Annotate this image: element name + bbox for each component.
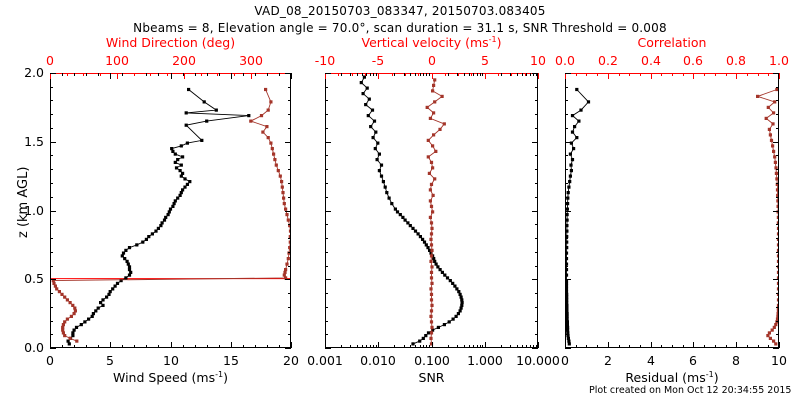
x-axis-label-bottom-residual: Residual (ms-1) bbox=[625, 370, 718, 385]
tick-top-minor bbox=[167, 73, 168, 76]
tick-y-minor bbox=[535, 252, 538, 253]
tick-y-major bbox=[565, 73, 571, 74]
tick-y-minor bbox=[288, 266, 291, 267]
tick-y-minor bbox=[565, 197, 568, 198]
tick-y-minor bbox=[288, 293, 291, 294]
tick-bottom-minor bbox=[366, 345, 367, 348]
tick-y-minor bbox=[776, 321, 779, 322]
tick-y-minor bbox=[50, 224, 53, 225]
tick-top-minor bbox=[201, 73, 202, 76]
tick-y-minor bbox=[50, 128, 53, 129]
series-correlation bbox=[756, 88, 778, 346]
tick-top-minor bbox=[525, 73, 526, 76]
tick-bottom-minor bbox=[530, 345, 531, 348]
tick-top-minor bbox=[392, 73, 393, 76]
tick-y-minor bbox=[288, 100, 291, 101]
tick-bottom-minor bbox=[426, 345, 427, 348]
tick-bottom-major bbox=[291, 342, 292, 348]
tick-bottom-major bbox=[736, 342, 737, 348]
tick-label-top: 0.8 bbox=[726, 53, 746, 68]
tick-top-minor bbox=[370, 73, 371, 76]
series-wind-direction bbox=[52, 88, 290, 343]
tick-y-minor bbox=[565, 224, 568, 225]
tick-top-major bbox=[608, 73, 609, 79]
tick-top-minor bbox=[445, 73, 446, 76]
tick-bottom-minor bbox=[480, 345, 481, 348]
tick-y-minor bbox=[50, 211, 53, 212]
tick-bottom-minor bbox=[420, 345, 421, 348]
tick-bottom-major bbox=[538, 342, 539, 348]
tick-bottom-minor bbox=[448, 345, 449, 348]
tick-y-major bbox=[325, 348, 331, 349]
tick-top-minor bbox=[526, 73, 527, 76]
tick-top-minor bbox=[501, 73, 502, 76]
tick-bottom-minor bbox=[394, 345, 395, 348]
tick-bottom-minor bbox=[376, 345, 377, 348]
tick-top-major bbox=[693, 73, 694, 79]
tick-top-minor bbox=[672, 73, 673, 76]
tick-y-major bbox=[773, 279, 779, 280]
tick-top-minor bbox=[62, 73, 63, 76]
plot-title: VAD_08_20150703_083347, 20150703.083405 bbox=[254, 4, 545, 18]
tick-bottom-major bbox=[378, 342, 379, 348]
tick-bottom-minor bbox=[517, 345, 518, 348]
y-tick-label: 1.0 bbox=[24, 203, 44, 218]
tick-y-minor bbox=[565, 307, 568, 308]
tick-bottom-minor bbox=[74, 345, 75, 348]
tick-top-minor bbox=[629, 73, 630, 76]
tick-y-major bbox=[50, 142, 56, 143]
tick-top-minor bbox=[394, 73, 395, 76]
tick-y-minor bbox=[325, 211, 328, 212]
tick-y-minor bbox=[288, 334, 291, 335]
tick-y-minor bbox=[50, 321, 53, 322]
tick-top-minor bbox=[158, 73, 159, 76]
tick-y-minor bbox=[565, 114, 568, 115]
tick-top-major bbox=[432, 73, 433, 79]
tick-y-minor bbox=[325, 252, 328, 253]
tick-bottom-minor bbox=[350, 345, 351, 348]
tick-top-minor bbox=[83, 73, 84, 76]
tick-top-minor bbox=[373, 73, 374, 76]
tick-top-minor bbox=[217, 73, 218, 76]
tick-y-minor bbox=[50, 293, 53, 294]
tick-y-minor bbox=[325, 293, 328, 294]
tick-y-major bbox=[532, 142, 538, 143]
tick-label-top: 0 bbox=[46, 53, 54, 68]
y-tick-label: 1.5 bbox=[24, 134, 44, 149]
x-axis-label-top-residual: Correlation bbox=[638, 35, 707, 50]
tick-y-minor bbox=[288, 114, 291, 115]
tick-label-bottom: 0.100 bbox=[414, 353, 450, 368]
tick-y-minor bbox=[535, 87, 538, 88]
tick-label-bottom: 10 bbox=[771, 353, 787, 368]
tick-top-minor bbox=[498, 73, 499, 76]
tick-bottom-minor bbox=[522, 345, 523, 348]
tick-label-top: 10 bbox=[530, 53, 546, 68]
tick-label-bottom: 20 bbox=[283, 353, 299, 368]
tick-top-minor bbox=[410, 73, 411, 76]
tick-y-minor bbox=[50, 169, 53, 170]
series-residual bbox=[566, 88, 590, 346]
tick-bottom-minor bbox=[373, 345, 374, 348]
tick-y-minor bbox=[776, 224, 779, 225]
tick-bottom-major bbox=[651, 342, 652, 348]
tick-y-major bbox=[285, 142, 291, 143]
tick-top-minor bbox=[100, 73, 101, 76]
tick-bottom-minor bbox=[473, 345, 474, 348]
tick-y-major bbox=[565, 348, 571, 349]
tick-bottom-minor bbox=[158, 345, 159, 348]
tick-y-minor bbox=[535, 100, 538, 101]
tick-bottom-minor bbox=[464, 345, 465, 348]
tick-label-top: -10 bbox=[315, 53, 335, 68]
tick-bottom-major bbox=[608, 342, 609, 348]
tick-y-minor bbox=[776, 197, 779, 198]
tick-y-minor bbox=[776, 114, 779, 115]
tick-y-minor bbox=[776, 211, 779, 212]
tick-y-minor bbox=[50, 155, 53, 156]
tick-y-minor bbox=[325, 100, 328, 101]
tick-top-minor bbox=[279, 73, 280, 76]
tick-bottom-minor bbox=[183, 345, 184, 348]
tick-y-minor bbox=[288, 307, 291, 308]
plot-frame-residual bbox=[565, 73, 779, 348]
tick-y-minor bbox=[565, 87, 568, 88]
tick-top-minor bbox=[511, 73, 512, 76]
tick-top-minor bbox=[768, 73, 769, 76]
tick-label-bottom: 0 bbox=[46, 353, 54, 368]
tick-bottom-minor bbox=[619, 345, 620, 348]
tick-y-minor bbox=[565, 293, 568, 294]
tick-top-major bbox=[184, 73, 185, 79]
tick-top-major bbox=[779, 73, 780, 79]
tick-y-minor bbox=[50, 87, 53, 88]
tick-label-bottom: 0 bbox=[561, 353, 569, 368]
tick-top-minor bbox=[357, 73, 358, 76]
tick-top-major bbox=[117, 73, 118, 79]
tick-top-minor bbox=[429, 73, 430, 76]
tick-y-minor bbox=[776, 155, 779, 156]
series-wind-speed bbox=[67, 88, 251, 346]
tick-y-minor bbox=[535, 155, 538, 156]
y-tick-label: 2.0 bbox=[24, 65, 44, 80]
tick-y-minor bbox=[325, 197, 328, 198]
tick-y-minor bbox=[535, 114, 538, 115]
tick-y-minor bbox=[325, 128, 328, 129]
tick-y-major bbox=[285, 73, 291, 74]
tick-y-major bbox=[565, 279, 571, 280]
tick-bottom-minor bbox=[482, 345, 483, 348]
tick-y-minor bbox=[776, 100, 779, 101]
tick-y-minor bbox=[288, 87, 291, 88]
tick-bottom-minor bbox=[586, 345, 587, 348]
tick-y-minor bbox=[565, 321, 568, 322]
tick-top-minor bbox=[597, 73, 598, 76]
tick-top-minor bbox=[473, 73, 474, 76]
tick-y-major bbox=[565, 142, 571, 143]
tick-bottom-minor bbox=[341, 345, 342, 348]
tick-top-inner bbox=[231, 73, 232, 79]
tick-y-major bbox=[773, 142, 779, 143]
tick-y-minor bbox=[50, 100, 53, 101]
tick-y-minor bbox=[565, 183, 568, 184]
tick-y-minor bbox=[535, 197, 538, 198]
tick-y-minor bbox=[565, 155, 568, 156]
y-tick-label: 0.0 bbox=[24, 340, 44, 355]
tick-top-minor bbox=[715, 73, 716, 76]
data-layer-snr bbox=[326, 74, 537, 347]
data-layer-residual bbox=[566, 74, 778, 347]
tick-bottom-minor bbox=[357, 345, 358, 348]
tick-top-minor bbox=[576, 73, 577, 76]
tick-top-inner bbox=[110, 73, 111, 79]
tick-top-major bbox=[378, 73, 379, 79]
tick-top-major bbox=[485, 73, 486, 79]
tick-bottom-minor bbox=[243, 345, 244, 348]
tick-y-minor bbox=[776, 238, 779, 239]
tick-y-minor bbox=[565, 252, 568, 253]
tick-bottom-minor bbox=[207, 345, 208, 348]
tick-y-major bbox=[532, 348, 538, 349]
tick-top-minor bbox=[418, 73, 419, 76]
tick-y-minor bbox=[565, 211, 568, 212]
tick-bottom-minor bbox=[423, 345, 424, 348]
tick-top-minor bbox=[480, 73, 481, 76]
tick-y-minor bbox=[50, 183, 53, 184]
tick-top-major bbox=[736, 73, 737, 79]
tick-bottom-minor bbox=[362, 345, 363, 348]
tick-top-minor bbox=[704, 73, 705, 76]
tick-y-minor bbox=[50, 307, 53, 308]
plot-canvas: VAD_08_20150703_083347, 20150703.083405 … bbox=[0, 0, 800, 400]
tick-top-minor bbox=[365, 73, 366, 76]
tick-bottom-minor bbox=[195, 345, 196, 348]
tick-bottom-minor bbox=[255, 345, 256, 348]
tick-y-minor bbox=[288, 155, 291, 156]
tick-y-major bbox=[285, 279, 291, 280]
x-axis-label-bottom-wind: Wind Speed (ms-1) bbox=[113, 370, 228, 385]
tick-top-minor bbox=[352, 73, 353, 76]
tick-bottom-minor bbox=[597, 345, 598, 348]
tick-label-bottom: 1.000 bbox=[467, 353, 503, 368]
tick-y-minor bbox=[776, 252, 779, 253]
tick-top-major bbox=[251, 73, 252, 79]
tick-top-minor bbox=[482, 73, 483, 76]
tick-y-minor bbox=[325, 87, 328, 88]
tick-top-minor bbox=[586, 73, 587, 76]
tick-y-major bbox=[325, 279, 331, 280]
tick-y-major bbox=[50, 348, 56, 349]
tick-bottom-minor bbox=[640, 345, 641, 348]
tick-y-minor bbox=[288, 211, 291, 212]
tick-y-major bbox=[325, 142, 331, 143]
tick-y-major bbox=[773, 348, 779, 349]
tick-bottom-minor bbox=[410, 345, 411, 348]
tick-y-minor bbox=[565, 238, 568, 239]
tick-bottom-minor bbox=[768, 345, 769, 348]
plot-subtitle: Nbeams = 8, Elevation angle = 70.0°, sca… bbox=[133, 21, 667, 35]
tick-bottom-minor bbox=[629, 345, 630, 348]
tick-y-minor bbox=[325, 334, 328, 335]
tick-y-major bbox=[50, 279, 56, 280]
tick-y-minor bbox=[535, 224, 538, 225]
tick-y-minor bbox=[565, 100, 568, 101]
tick-y-minor bbox=[776, 293, 779, 294]
tick-label-top: 1.0 bbox=[769, 53, 789, 68]
tick-y-minor bbox=[535, 211, 538, 212]
tick-top-minor bbox=[458, 73, 459, 76]
tick-bottom-minor bbox=[415, 345, 416, 348]
tick-bottom-minor bbox=[370, 345, 371, 348]
tick-bottom-minor bbox=[501, 345, 502, 348]
tick-top-minor bbox=[522, 73, 523, 76]
tick-top-minor bbox=[86, 73, 87, 76]
tick-bottom-major bbox=[231, 342, 232, 348]
tick-y-minor bbox=[325, 307, 328, 308]
tick-top-minor bbox=[464, 73, 465, 76]
tick-bottom-minor bbox=[683, 345, 684, 348]
tick-y-major bbox=[50, 73, 56, 74]
tick-y-minor bbox=[565, 334, 568, 335]
tick-top-minor bbox=[74, 73, 75, 76]
tick-bottom-minor bbox=[404, 345, 405, 348]
tick-bottom-minor bbox=[219, 345, 220, 348]
tick-top-minor bbox=[426, 73, 427, 76]
tick-top-minor bbox=[747, 73, 748, 76]
tick-top-minor bbox=[530, 73, 531, 76]
tick-y-minor bbox=[776, 307, 779, 308]
tick-top-minor bbox=[477, 73, 478, 76]
tick-top-minor bbox=[207, 73, 208, 76]
tick-y-minor bbox=[50, 266, 53, 267]
tick-top-minor bbox=[758, 73, 759, 76]
tick-bottom-minor bbox=[576, 345, 577, 348]
tick-y-major bbox=[285, 348, 291, 349]
tick-top-minor bbox=[134, 73, 135, 76]
tick-y-minor bbox=[288, 224, 291, 225]
tick-label-bottom: 10 bbox=[163, 353, 179, 368]
tick-label-top: 0.6 bbox=[683, 53, 703, 68]
tick-y-minor bbox=[325, 321, 328, 322]
tick-bottom-minor bbox=[747, 345, 748, 348]
tick-label-top: 0.2 bbox=[598, 53, 618, 68]
tick-label-top: 0.0 bbox=[555, 53, 575, 68]
tick-top-minor bbox=[471, 73, 472, 76]
tick-bottom-minor bbox=[62, 345, 63, 348]
tick-bottom-minor bbox=[146, 345, 147, 348]
tick-top-minor bbox=[267, 73, 268, 76]
x-axis-label-bottom-snr: SNR bbox=[419, 370, 445, 385]
tick-y-minor bbox=[776, 169, 779, 170]
tick-top-minor bbox=[640, 73, 641, 76]
tick-y-minor bbox=[776, 266, 779, 267]
tick-y-major bbox=[532, 279, 538, 280]
tick-y-minor bbox=[325, 238, 328, 239]
tick-top-minor bbox=[234, 73, 235, 76]
tick-bottom-major bbox=[110, 342, 111, 348]
data-layer-wind bbox=[51, 74, 290, 347]
tick-bottom-minor bbox=[457, 345, 458, 348]
footer-timestamp: Plot created on Mon Oct 12 20:34:55 2015 bbox=[589, 385, 791, 396]
tick-y-minor bbox=[325, 266, 328, 267]
tick-bottom-minor bbox=[469, 345, 470, 348]
tick-top-minor bbox=[98, 73, 99, 76]
tick-y-minor bbox=[776, 128, 779, 129]
tick-y-minor bbox=[535, 266, 538, 267]
tick-bottom-minor bbox=[510, 345, 511, 348]
tick-bottom-minor bbox=[134, 345, 135, 348]
tick-top-minor bbox=[619, 73, 620, 76]
tick-bottom-minor bbox=[704, 345, 705, 348]
tick-label-bottom: 15 bbox=[223, 353, 239, 368]
tick-y-minor bbox=[288, 183, 291, 184]
tick-y-minor bbox=[288, 238, 291, 239]
tick-label-top: 5 bbox=[481, 53, 489, 68]
tick-y-minor bbox=[325, 114, 328, 115]
tick-top-minor bbox=[420, 73, 421, 76]
tick-top-minor bbox=[150, 73, 151, 76]
tick-y-minor bbox=[565, 169, 568, 170]
tick-top-minor bbox=[415, 73, 416, 76]
tick-top-minor bbox=[67, 73, 68, 76]
tick-y-minor bbox=[776, 334, 779, 335]
tick-top-major bbox=[538, 73, 539, 79]
tick-label-bottom: 8 bbox=[732, 353, 740, 368]
tick-y-minor bbox=[325, 183, 328, 184]
tick-y-minor bbox=[776, 87, 779, 88]
tick-y-minor bbox=[288, 128, 291, 129]
tick-top-minor bbox=[405, 73, 406, 76]
tick-top-minor bbox=[341, 73, 342, 76]
tick-top-inner bbox=[171, 73, 172, 79]
tick-y-minor bbox=[325, 155, 328, 156]
tick-top-minor bbox=[661, 73, 662, 76]
tick-y-minor bbox=[535, 169, 538, 170]
series-snr bbox=[360, 76, 464, 346]
tick-bottom-minor bbox=[526, 345, 527, 348]
tick-top-minor bbox=[350, 73, 351, 76]
tick-y-minor bbox=[50, 238, 53, 239]
tick-bottom-minor bbox=[122, 345, 123, 348]
tick-label-top: 200 bbox=[172, 53, 196, 68]
tick-label-bottom: 10.000 bbox=[516, 353, 560, 368]
tick-y-minor bbox=[776, 183, 779, 184]
tick-top-minor bbox=[195, 73, 196, 76]
tick-bottom-major bbox=[171, 342, 172, 348]
x-axis-label-top-snr: Vertical velocity (ms-1) bbox=[361, 35, 501, 50]
tick-bottom-minor bbox=[661, 345, 662, 348]
tick-top-minor bbox=[517, 73, 518, 76]
tick-bottom-minor bbox=[98, 345, 99, 348]
tick-top-minor bbox=[243, 73, 244, 76]
plot-frame-wind bbox=[50, 73, 291, 348]
tick-y-minor bbox=[50, 252, 53, 253]
tick-y-major bbox=[532, 73, 538, 74]
tick-top-minor bbox=[469, 73, 470, 76]
tick-top-minor bbox=[362, 73, 363, 76]
tick-label-top: -5 bbox=[372, 53, 384, 68]
tick-label-bottom: 5 bbox=[106, 353, 114, 368]
tick-bottom-minor bbox=[429, 345, 430, 348]
tick-label-top: 0.4 bbox=[641, 53, 661, 68]
tick-y-minor bbox=[50, 114, 53, 115]
tick-label-top: 300 bbox=[239, 53, 263, 68]
tick-y-minor bbox=[50, 197, 53, 198]
tick-top-minor bbox=[338, 73, 339, 76]
tick-top-minor bbox=[726, 73, 727, 76]
tick-top-minor bbox=[683, 73, 684, 76]
